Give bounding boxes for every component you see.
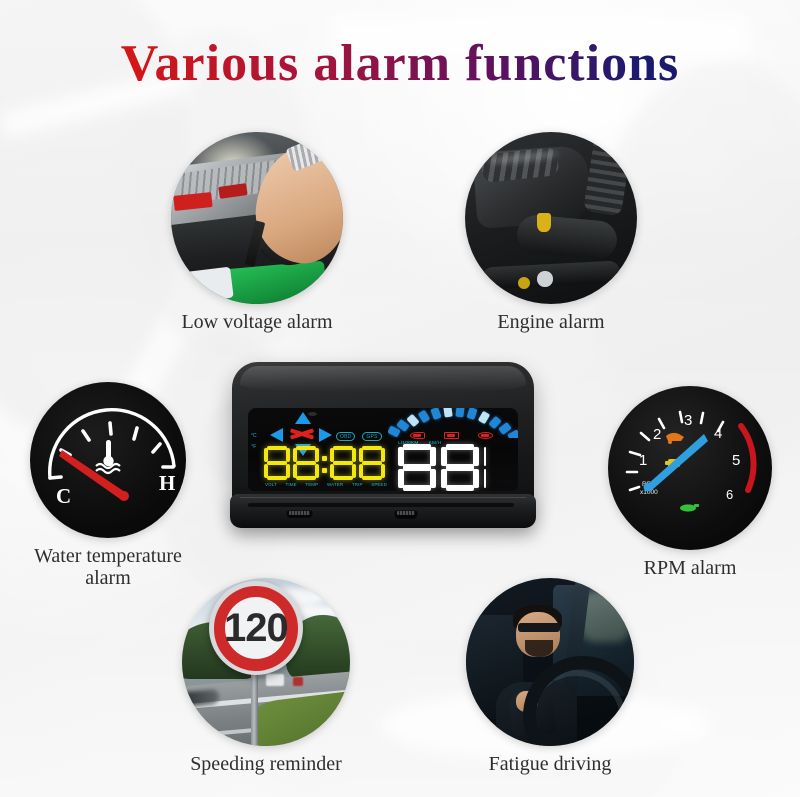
celsius-marker: °C	[251, 434, 257, 439]
head-up-display-unit: OBD GPS °C °F VOLTTIMETEMPWATERTRIPSPEED	[232, 362, 534, 537]
arrow-left-icon	[270, 428, 283, 442]
highway-scene: 120	[182, 578, 350, 746]
connection-tags: OBD GPS	[336, 432, 382, 441]
brake-warning-icon	[478, 432, 493, 439]
digit-colon	[322, 448, 327, 478]
steering-wheel	[523, 656, 634, 746]
rpm-alarm-caption: RPM alarm	[604, 557, 776, 579]
micro-usb-port[interactable]	[286, 509, 313, 518]
low-voltage-alarm-caption: Low voltage alarm	[162, 311, 352, 333]
arrow-right-icon	[319, 428, 332, 442]
eco-indicator-icon	[680, 504, 699, 512]
hud-base	[230, 494, 536, 528]
yellow-digit	[330, 446, 356, 480]
yellow-digit	[264, 446, 290, 480]
battery-test-scene	[171, 132, 343, 304]
water-temperature-gauge-image: C H	[30, 382, 186, 538]
speed-limit-sign: 120	[209, 581, 303, 675]
feature-rpm-alarm: 1 2 3 4 5 6 RPM x1000	[604, 386, 776, 579]
temp-low-label: C	[56, 484, 71, 508]
page-title: Various alarm functions	[0, 34, 800, 93]
tachometer-face: 1 2 3 4 5 6 RPM x1000	[608, 386, 772, 550]
feature-engine-alarm: Engine alarm	[456, 132, 646, 333]
temperature-gauge-svg: C H	[30, 382, 186, 538]
rpm-tick-6: 6	[726, 487, 733, 502]
yellow-digit-display: VOLTTIMETEMPWATERTRIPSPEED	[264, 446, 388, 487]
yellow-display-labels: VOLTTIMETEMPWATERTRIPSPEED	[264, 482, 388, 487]
white-digit	[398, 444, 436, 491]
drowsy-driver-scene	[466, 578, 634, 746]
speeding-reminder-caption: Speeding reminder	[176, 753, 356, 775]
arrow-up-icon	[295, 412, 311, 424]
white-digit-display	[398, 444, 499, 491]
feature-low-voltage-alarm: Low voltage alarm	[162, 132, 352, 333]
yellow-digit	[293, 446, 319, 480]
oil-pressure-icon	[666, 433, 684, 444]
warning-cross-icon	[290, 428, 314, 439]
eyeglasses	[518, 623, 560, 631]
white-digit	[441, 444, 479, 491]
speeding-reminder-image: 120	[182, 578, 350, 746]
white-digit-partial	[484, 444, 499, 491]
engine-alarm-caption: Engine alarm	[456, 311, 646, 333]
coolant-temperature-icon	[96, 440, 120, 473]
rpm-tick-5: 5	[732, 452, 740, 469]
fahrenheit-marker: °F	[251, 445, 256, 450]
water-temperature-alarm-caption: Water temperature alarm	[22, 545, 194, 590]
battery-warning-icon	[444, 432, 459, 439]
engine-bay-scene	[465, 132, 637, 304]
low-voltage-alarm-image	[171, 132, 343, 304]
feature-fatigue-driving: Fatigue driving	[460, 578, 640, 775]
warning-icon-row	[410, 432, 493, 439]
rpm-gauge-svg: 1 2 3 4 5 6 RPM x1000	[608, 386, 772, 550]
rpm-gauge-image: 1 2 3 4 5 6 RPM x1000	[608, 386, 772, 550]
rpm-tick-1: 1	[639, 452, 647, 469]
yellow-digit	[359, 446, 385, 480]
hud-body: OBD GPS °C °F VOLTTIMETEMPWATERTRIPSPEED	[232, 362, 534, 512]
oil-warning-icon	[410, 432, 425, 439]
rpm-tick-4: 4	[714, 425, 722, 442]
hud-screen: OBD GPS °C °F VOLTTIMETEMPWATERTRIPSPEED	[248, 408, 518, 491]
temperature-gauge-face: C H	[30, 382, 186, 538]
speed-limit-value: 120	[209, 581, 303, 675]
dipstick-handle	[537, 213, 551, 232]
rpm-tick-3: 3	[684, 412, 692, 429]
feature-water-temperature-alarm: C H Water temperature alarm	[22, 382, 194, 590]
fatigue-driving-image	[466, 578, 634, 746]
engine-alarm-image	[465, 132, 637, 304]
rpm-tick-2: 2	[653, 426, 661, 443]
unit-markers: °C °F	[251, 434, 257, 450]
feature-speeding-reminder: 120 Speeding reminder	[176, 578, 356, 775]
mini-usb-port[interactable]	[394, 509, 418, 519]
fatigue-driving-caption: Fatigue driving	[460, 753, 640, 775]
obd-tag: OBD	[336, 432, 355, 441]
gps-tag: GPS	[362, 432, 381, 441]
temp-high-label: H	[159, 471, 175, 495]
